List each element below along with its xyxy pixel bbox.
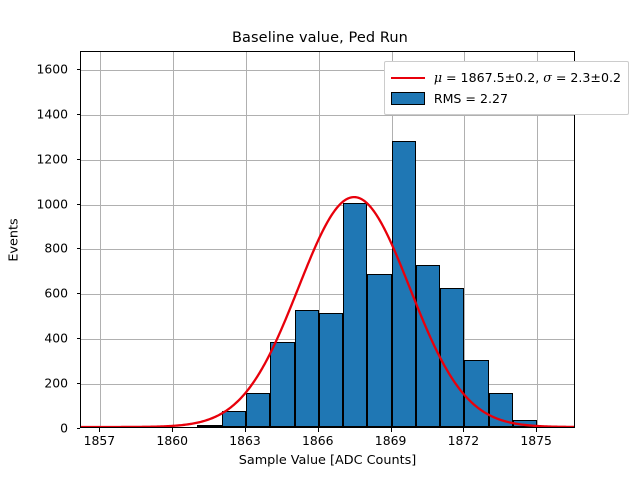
legend-entry-rms: RMS = 2.27 — [391, 88, 621, 109]
y-tick-mark — [77, 338, 81, 339]
legend-entry-fit: μ = 1867.5±0.2, σ = 2.3±0.2 — [391, 67, 621, 88]
y-tick-label: 800 — [44, 241, 68, 256]
x-tick-label: 1857 — [84, 433, 116, 448]
x-tick-mark — [245, 428, 246, 432]
x-tick-mark — [536, 428, 537, 432]
x-tick-label: 1875 — [520, 433, 552, 448]
legend-line-swatch-icon — [391, 71, 425, 85]
y-axis-label: Events — [7, 218, 22, 261]
y-tick-label: 1000 — [36, 196, 68, 211]
y-tick-label: 0 — [60, 421, 68, 436]
x-tick-label: 1860 — [156, 433, 188, 448]
y-tick-mark — [77, 383, 81, 384]
x-tick-label: 1866 — [302, 433, 334, 448]
x-tick-mark — [318, 428, 319, 432]
x-tick-mark — [391, 428, 392, 432]
matplotlib-figure: Baseline value, Ped Run 1857186018631866… — [0, 0, 640, 480]
x-tick-label: 1869 — [375, 433, 407, 448]
y-tick-label: 1600 — [36, 61, 68, 76]
legend-label-rms: RMS = 2.27 — [434, 91, 508, 106]
y-tick-label: 400 — [44, 331, 68, 346]
y-tick-mark — [77, 159, 81, 160]
x-tick-mark — [172, 428, 173, 432]
legend-label-fit: μ = 1867.5±0.2, σ = 2.3±0.2 — [434, 70, 621, 85]
y-tick-mark — [77, 204, 81, 205]
page-title: Baseline value, Ped Run — [0, 30, 640, 46]
y-tick-label: 200 — [44, 376, 68, 391]
legend-patch-swatch-icon — [391, 92, 425, 105]
x-tick-label: 1872 — [448, 433, 480, 448]
y-tick-mark — [77, 69, 81, 70]
y-tick-label: 600 — [44, 286, 68, 301]
x-tick-mark — [99, 428, 100, 432]
x-tick-label: 1863 — [229, 433, 261, 448]
y-tick-mark — [77, 428, 81, 429]
x-tick-mark — [463, 428, 464, 432]
x-axis-label: Sample Value [ADC Counts] — [80, 453, 575, 468]
legend: μ = 1867.5±0.2, σ = 2.3±0.2 RMS = 2.27 — [384, 61, 629, 115]
y-tick-mark — [77, 248, 81, 249]
y-tick-label: 1200 — [36, 151, 68, 166]
y-tick-mark — [77, 293, 81, 294]
y-tick-mark — [77, 114, 81, 115]
y-tick-label: 1400 — [36, 106, 68, 121]
